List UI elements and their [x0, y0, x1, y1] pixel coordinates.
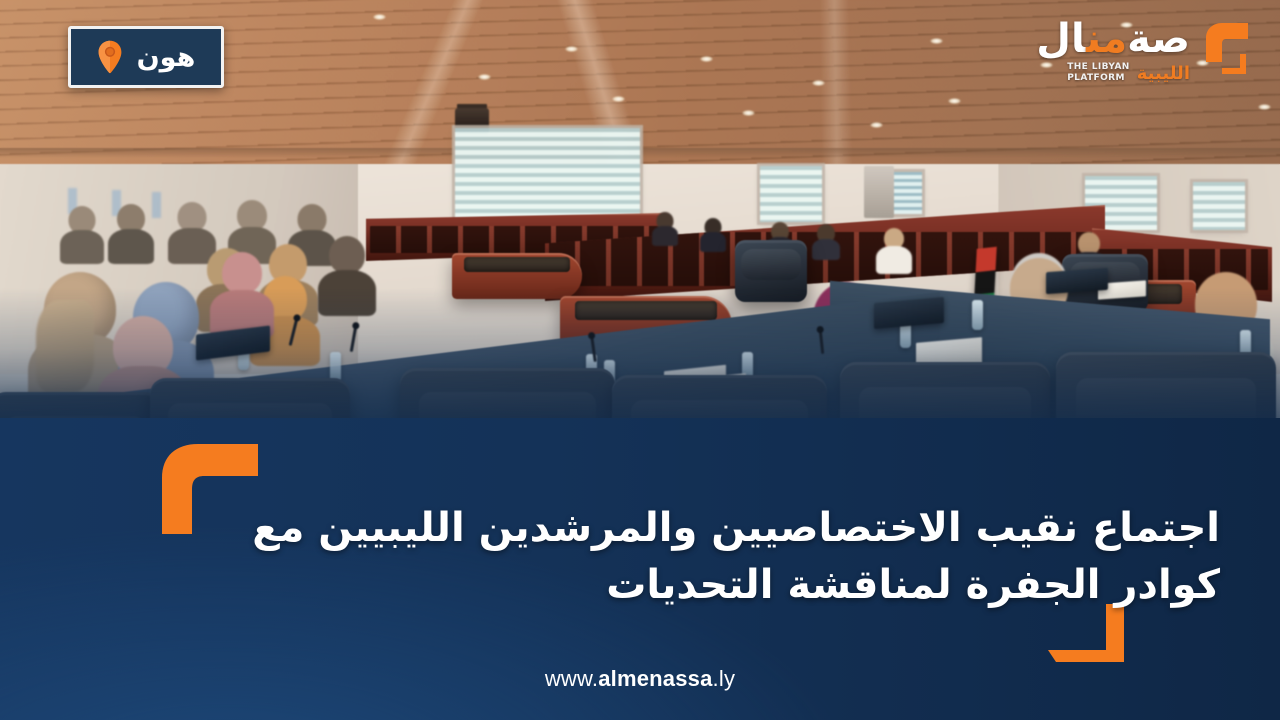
- ceiling-light: [930, 38, 943, 44]
- attendee: [652, 212, 678, 246]
- logo-english-tagline: THE LIBYANPLATFORM: [1067, 62, 1130, 83]
- ceiling-light: [1258, 104, 1271, 110]
- map-pin-icon: [97, 40, 123, 74]
- url-name: almenassa: [598, 666, 712, 691]
- ceiling-light: [612, 96, 625, 102]
- url-prefix: www.: [545, 666, 598, 691]
- caption-line-2: الجفرة لمناقشة التحديات: [606, 562, 1100, 608]
- ceiling-light: [373, 14, 386, 20]
- location-badge[interactable]: هون: [68, 26, 224, 88]
- almenassa-bracket-mark-icon: [1196, 18, 1258, 84]
- ceiling-cornice: [0, 148, 1280, 158]
- ceiling-light: [812, 80, 825, 86]
- window-blinds: [1193, 182, 1245, 230]
- air-conditioner: [864, 166, 894, 218]
- news-card: هون صةمنال الليبية THE LIBYANPLATFORM: [0, 0, 1280, 720]
- location-label: هون: [137, 44, 196, 71]
- attendee: [108, 204, 154, 264]
- ceiling-light: [478, 74, 491, 80]
- logo-arabic-name: صةمنال: [1036, 19, 1190, 59]
- headline-caption: اجتماع نقيب الاختصاصيين والمرشدين الليبي…: [160, 500, 1220, 614]
- ceiling-light: [948, 98, 961, 104]
- attendee: [700, 218, 726, 252]
- url-tld: .ly: [713, 666, 736, 691]
- logo-arabic-secondary: الليبية: [1137, 65, 1190, 83]
- ceiling-light: [565, 46, 578, 52]
- brand-logo[interactable]: صةمنال الليبية THE LIBYANPLATFORM: [1036, 18, 1258, 84]
- logo-wordmark: صةمنال الليبية THE LIBYANPLATFORM: [1036, 19, 1190, 83]
- ceiling-light: [870, 122, 883, 128]
- attendee: [60, 206, 104, 264]
- ceiling-light: [742, 110, 755, 116]
- ceiling-light: [700, 56, 713, 62]
- attendee-white-robe: [876, 228, 912, 274]
- attendee: [812, 224, 840, 260]
- website-url[interactable]: www.almenassa.ly: [0, 666, 1280, 692]
- window-blinds: [760, 166, 822, 222]
